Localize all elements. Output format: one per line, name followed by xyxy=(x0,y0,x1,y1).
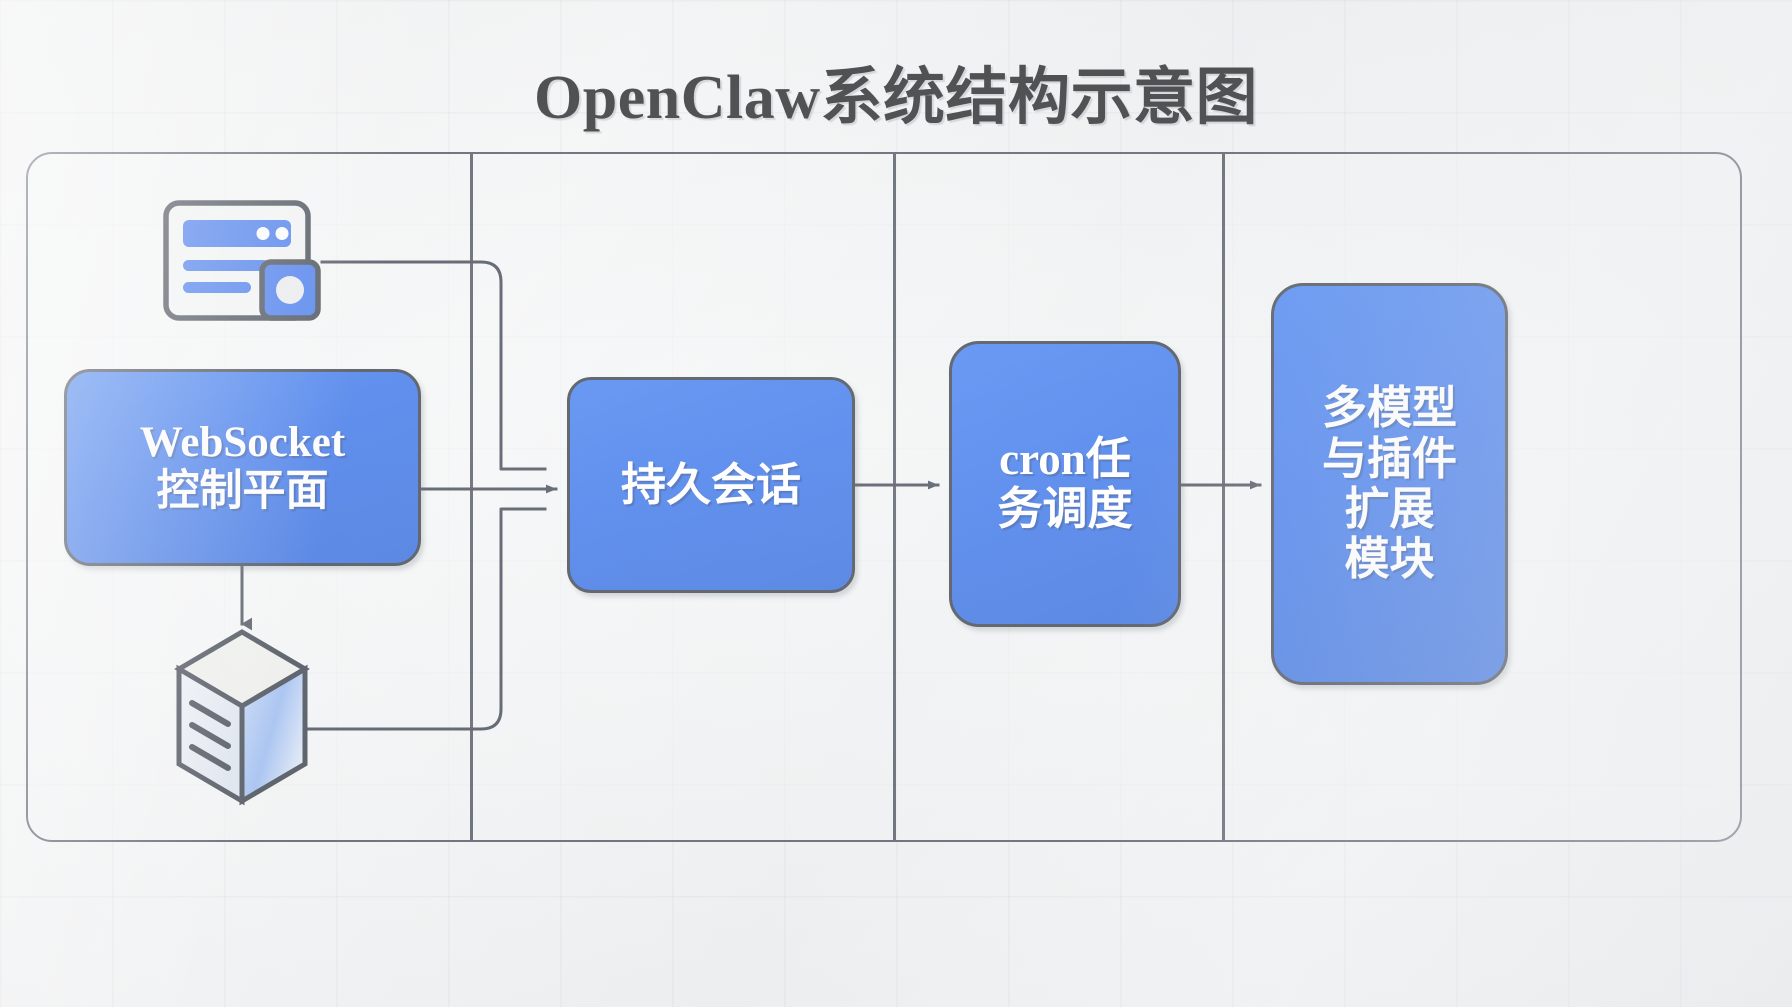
node-extensions-line-3: 模块 xyxy=(1344,534,1434,584)
node-extensions-line-2: 扩展 xyxy=(1344,484,1434,534)
diagram-canvas: OpenClaw系统结构示意图 xyxy=(0,0,1792,1007)
node-websocket-line-1: 控制平面 xyxy=(157,468,329,516)
browser-window-icon xyxy=(163,200,323,330)
node-session-line-0: 持久会话 xyxy=(621,460,801,510)
node-websocket[interactable]: WebSocket 控制平面 xyxy=(64,369,421,566)
node-cron-line-1: 务调度 xyxy=(997,484,1132,534)
node-extensions[interactable]: 多模型 与插件 扩展 模块 xyxy=(1271,283,1508,685)
node-websocket-line-0: WebSocket xyxy=(140,419,345,467)
page-title: OpenClaw系统结构示意图 xyxy=(0,46,1792,136)
node-session[interactable]: 持久会话 xyxy=(567,377,855,593)
server-cube-icon xyxy=(172,627,312,807)
node-cron-line-0: cron任 xyxy=(999,434,1131,484)
node-cron[interactable]: cron任 务调度 xyxy=(949,341,1181,627)
node-extensions-line-1: 与插件 xyxy=(1322,434,1457,484)
node-extensions-line-0: 多模型 xyxy=(1322,383,1457,433)
